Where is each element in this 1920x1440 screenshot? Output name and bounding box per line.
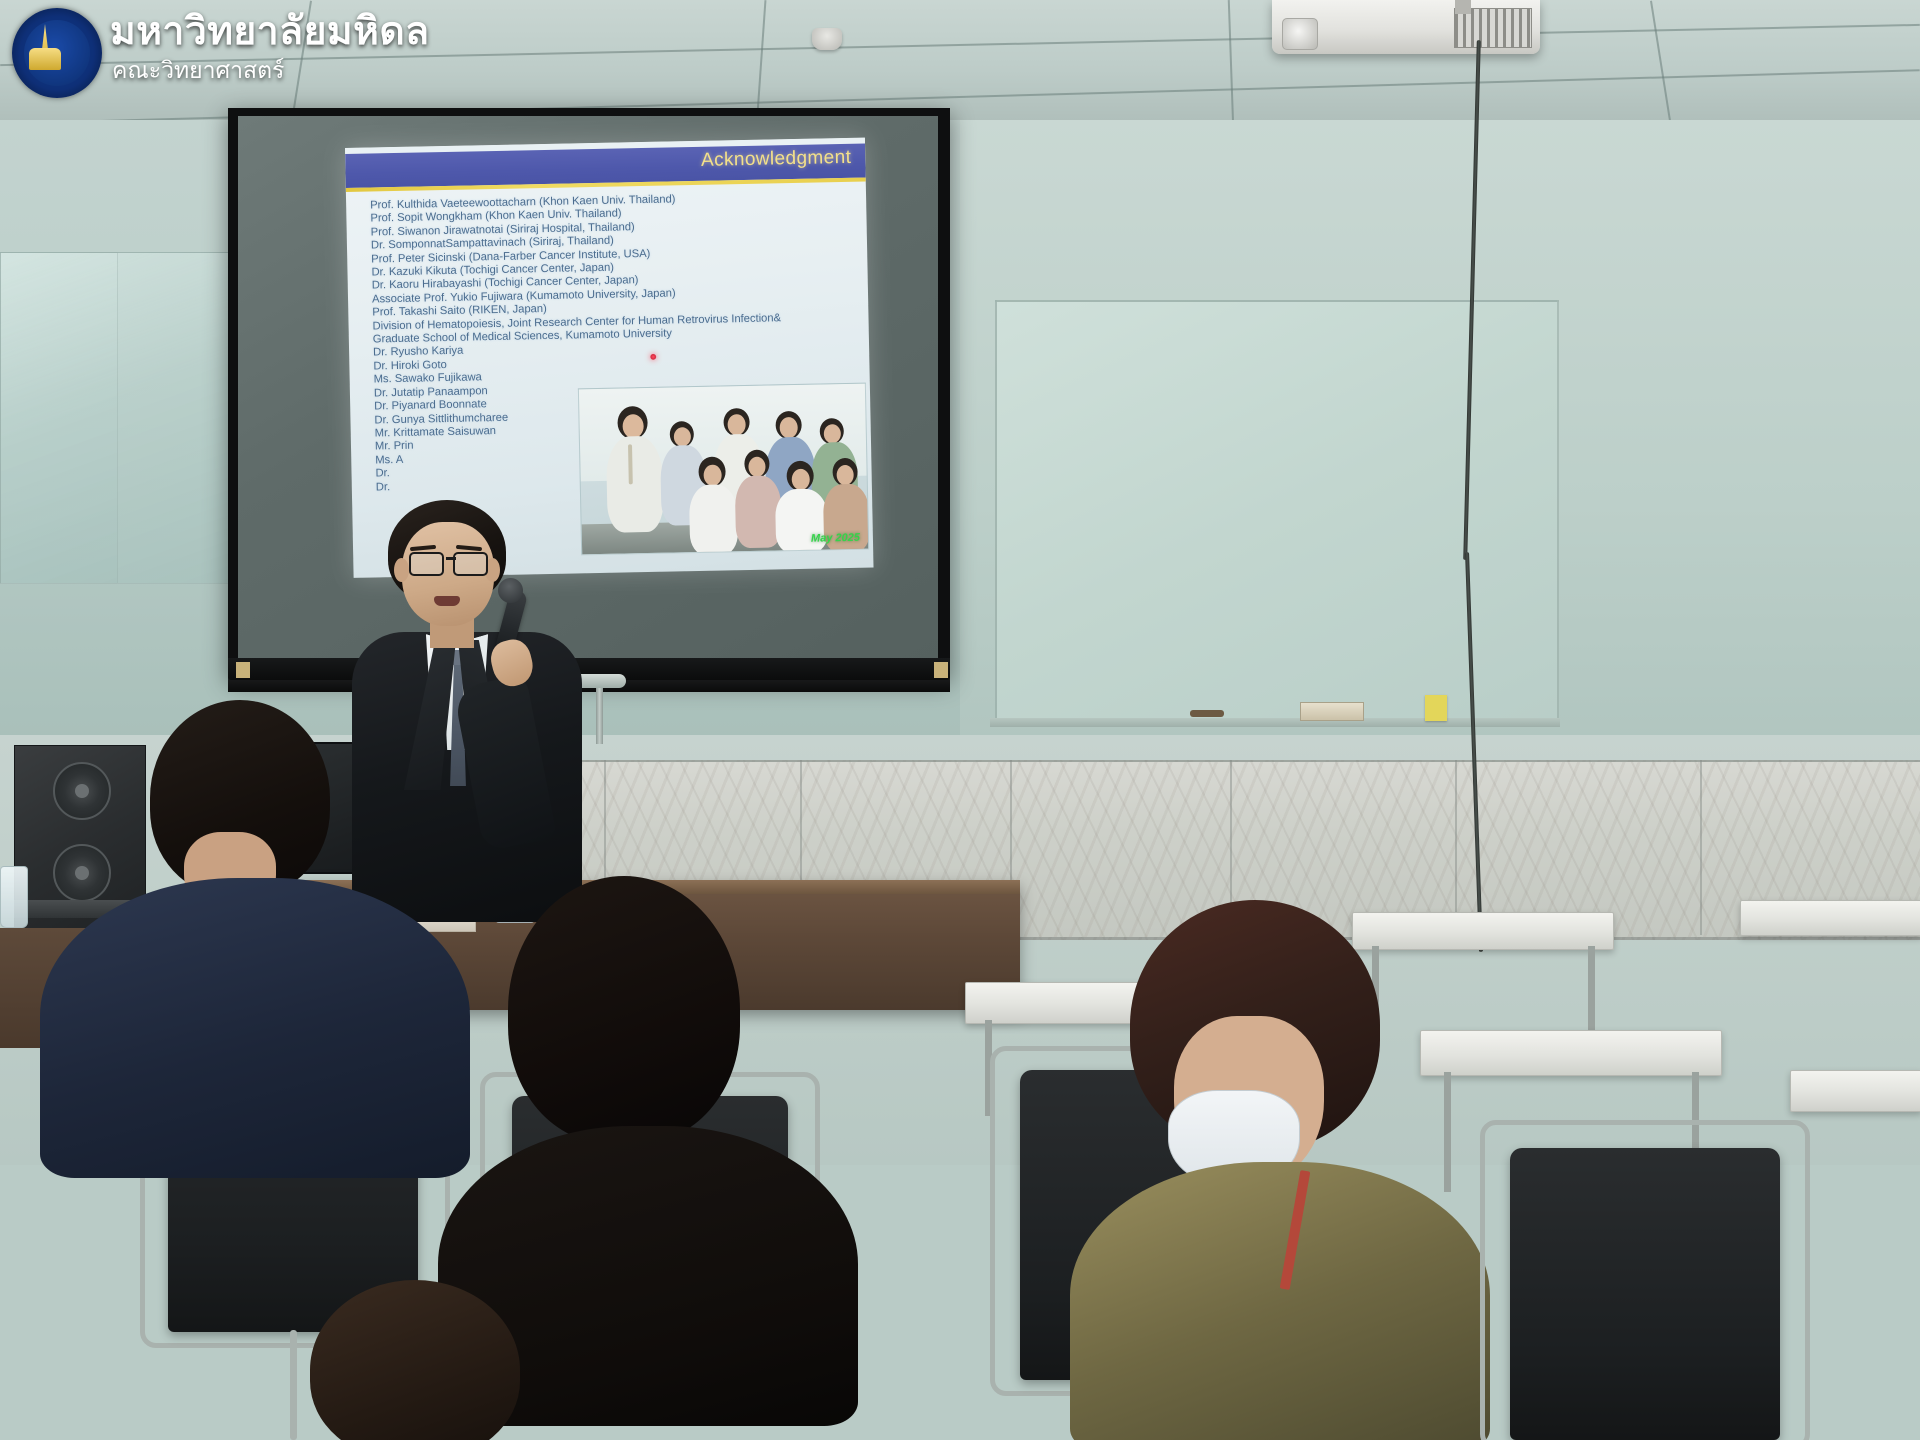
screen-weight-right xyxy=(934,662,948,678)
ceiling-projector xyxy=(1272,0,1540,54)
audience-chair[interactable] xyxy=(1510,1148,1780,1440)
student-table xyxy=(1352,912,1614,950)
pc-fan-icon xyxy=(53,844,111,902)
audience-shoulders xyxy=(1070,1162,1490,1440)
projector-lens-icon xyxy=(1282,18,1318,50)
wall-whiteboard xyxy=(995,300,1559,724)
eyeglasses-bridge-icon xyxy=(446,557,456,560)
smoke-detector-icon xyxy=(812,28,842,50)
audience-shoulders xyxy=(40,878,470,1178)
watermark-logo: มหาวิทยาลัยมหิดล คณะวิทยาศาสตร์ xyxy=(6,4,436,100)
student-table xyxy=(1790,1070,1920,1112)
sticky-note[interactable] xyxy=(1425,695,1447,721)
presenter-with-microphone xyxy=(352,500,582,920)
glass-partition-left-inner xyxy=(0,252,118,584)
student-table xyxy=(1740,900,1920,936)
lecture-room-photo: Acknowledgment Prof. Kulthida Vaeteewoot… xyxy=(0,0,1920,1440)
projector-mount xyxy=(1455,0,1471,14)
photo-date-caption: May 2025 xyxy=(811,532,860,545)
eyeglasses-lens-left-icon xyxy=(409,552,444,576)
audience-head xyxy=(508,876,740,1144)
seal-crown-icon xyxy=(29,48,61,70)
laser-pointer-dot xyxy=(650,354,656,360)
photo-person-body xyxy=(689,484,738,555)
whiteboard-marker[interactable] xyxy=(1190,710,1224,717)
presenter-ear-left xyxy=(394,558,409,582)
table-leg xyxy=(1444,1072,1451,1192)
projector-vent-icon xyxy=(1454,8,1532,48)
dado-seam xyxy=(1700,760,1702,935)
eyeglasses-lens-right-icon xyxy=(453,552,488,576)
student-table xyxy=(1420,1030,1722,1076)
slide-title: Acknowledgment xyxy=(701,147,852,172)
screen-weight-left xyxy=(236,662,250,678)
presenter-mouth xyxy=(434,596,460,606)
photo-person-body xyxy=(606,436,664,533)
photo-lanyard xyxy=(628,444,633,484)
pc-fan-icon xyxy=(53,762,111,820)
dado-seam xyxy=(1455,760,1457,935)
watermark-org-name: มหาวิทยาลัยมหิดล xyxy=(110,10,430,54)
watermark-faculty-name: คณะวิทยาศาสตร์ xyxy=(112,56,284,84)
water-bottle xyxy=(0,866,28,928)
lab-group-photo: May 2025 xyxy=(578,383,869,556)
whiteboard-eraser[interactable] xyxy=(1300,702,1364,721)
mahidol-university-seal-icon xyxy=(12,8,102,98)
chair-leg xyxy=(290,1330,297,1440)
